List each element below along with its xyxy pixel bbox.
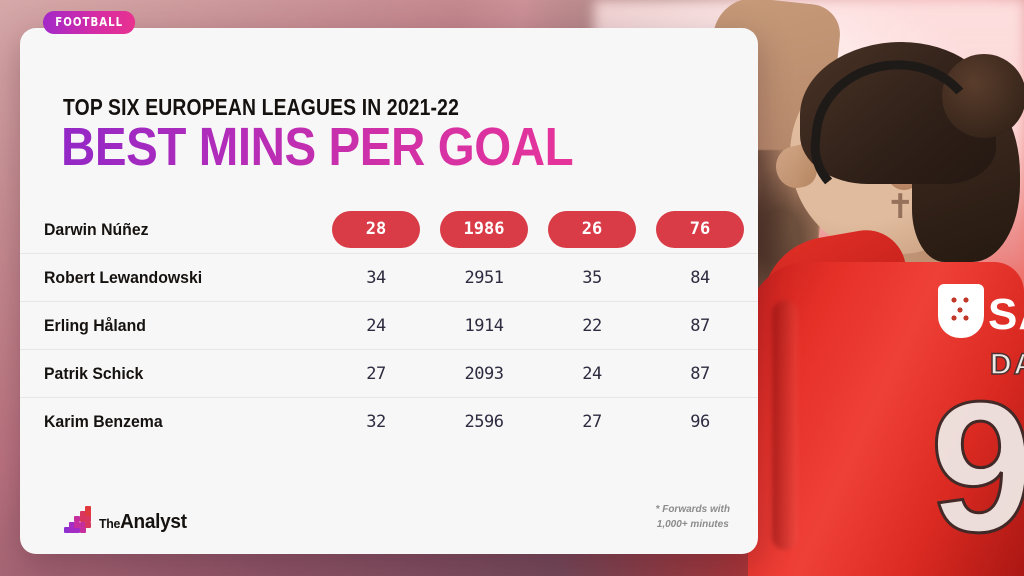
cell-player: Darwin Núñez — [44, 220, 303, 240]
cell-mins: 2596 — [430, 412, 538, 432]
cell-player: Patrik Schick — [44, 364, 303, 384]
cell-apps: 28 — [322, 211, 430, 248]
cell-goals: 27 — [538, 412, 646, 432]
cell-apps: 24 — [322, 316, 430, 336]
jersey-fold — [772, 300, 798, 550]
stats-table: Player Apps Mins Goals Mins/Goal* Darwin… — [20, 206, 758, 446]
cell-mins-per-goal: 87 — [646, 364, 754, 384]
logo-analyst: Analyst — [120, 511, 187, 533]
card-footer: TheAnalyst * Forwards with 1,000+ minute… — [20, 482, 758, 554]
cell-apps: 34 — [322, 268, 430, 288]
cell-mins: 2951 — [430, 268, 538, 288]
cell-apps: 27 — [322, 364, 430, 384]
cell-player: Robert Lewandowski — [44, 268, 303, 288]
category-badge[interactable]: FOOTBALL — [43, 11, 135, 34]
table-row[interactable]: Robert Lewandowski 34 2951 35 84 — [20, 254, 758, 302]
page-title: BEST MINS PER GOAL — [61, 120, 573, 174]
cell-player: Karim Benzema — [44, 412, 303, 432]
jersey-number-text: 9 — [930, 392, 1024, 545]
cell-mins: 2093 — [430, 364, 538, 384]
cell-mins-per-goal: 96 — [646, 412, 754, 432]
table-row[interactable]: Patrik Schick 27 2093 24 87 — [20, 350, 758, 398]
cell-goals: 26 — [538, 211, 646, 248]
cell-apps: 32 — [322, 412, 430, 432]
analyst-staircase-icon — [64, 506, 90, 532]
cell-mins: 1986 — [430, 211, 538, 248]
table-row[interactable]: Darwin Núñez 28 1986 26 76 — [20, 206, 758, 254]
footnote-line-2: 1,000+ minutes — [656, 518, 730, 533]
logo-wordmark: TheAnalyst — [99, 512, 187, 532]
footnote-line-1: * Forwards with — [656, 503, 730, 518]
infographic-card: TOP SIX EUROPEAN LEAGUES IN 2021-22 BEST… — [20, 28, 758, 554]
cell-player: Erling Håland — [44, 316, 303, 336]
cell-goals: 35 — [538, 268, 646, 288]
cell-mins-per-goal: 76 — [646, 211, 754, 248]
the-analyst-logo[interactable]: TheAnalyst — [64, 506, 191, 532]
cell-goals: 22 — [538, 316, 646, 336]
cell-mins-per-goal: 84 — [646, 268, 754, 288]
jersey-crest-icon — [938, 284, 984, 338]
cell-mins: 1914 — [430, 316, 538, 336]
table-row[interactable]: Erling Håland 24 1914 22 87 — [20, 302, 758, 350]
cell-mins-per-goal: 87 — [646, 316, 754, 336]
logo-the: The — [99, 516, 120, 531]
footnote: * Forwards with 1,000+ minutes — [656, 503, 730, 532]
jersey-sponsor-text: SA — [988, 290, 1024, 340]
cell-goals: 24 — [538, 364, 646, 384]
table-row[interactable]: Karim Benzema 32 2596 27 96 — [20, 398, 758, 446]
